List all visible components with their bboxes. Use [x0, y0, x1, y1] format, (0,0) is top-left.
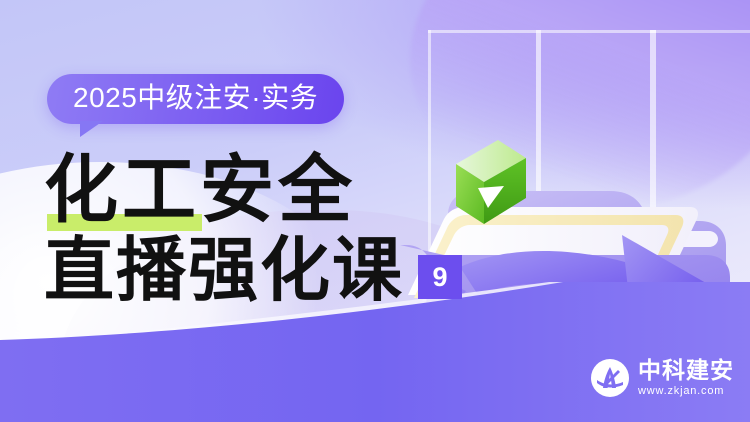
headline-block: 化工安全 直播强化课 9 — [44, 152, 464, 308]
course-category-badge: 2025中级注安·实务 — [47, 74, 344, 124]
brand-text: 中科建安 www.zkjan.com — [638, 358, 734, 398]
brand-mark-icon — [590, 358, 630, 398]
badge-tail — [80, 121, 103, 137]
panel-top-rail — [428, 30, 656, 33]
headline-text-1: 化工安全 — [44, 152, 464, 230]
headline-text-2: 直播强化课 — [44, 236, 404, 308]
course-banner: 2025中级注安·实务 化工安全 直播强化课 9 中科建安 — [0, 0, 750, 422]
brand-url: www.zkjan.com — [638, 384, 734, 398]
panel-top-rail-2 — [650, 30, 750, 33]
badge-label: 2025中级注安·实务 — [73, 84, 318, 112]
brand-name: 中科建安 — [638, 358, 734, 382]
episode-badge: 9 — [418, 255, 462, 299]
badge-pill: 2025中级注安·实务 — [47, 74, 344, 124]
episode-number: 9 — [432, 264, 447, 291]
brand-logo: 中科建安 www.zkjan.com — [590, 358, 734, 398]
headline-line-1: 化工安全 — [44, 152, 464, 230]
headline-line-2: 直播强化课 9 — [44, 236, 464, 308]
play-cube-icon — [452, 136, 537, 228]
